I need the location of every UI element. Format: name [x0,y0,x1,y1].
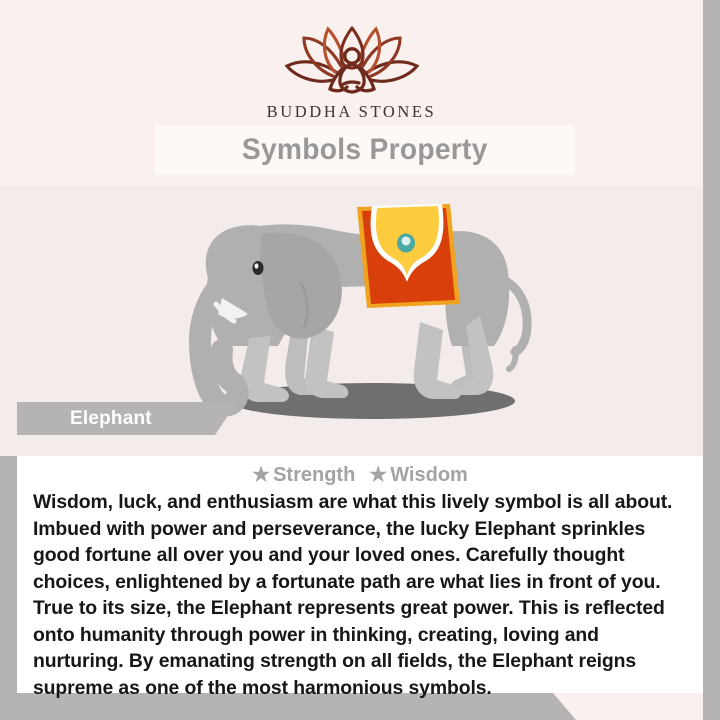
symbol-name: Elephant [70,408,152,430]
lotus-meditation-figure-icon [273,22,431,100]
keyword-strength: ★Strength [252,462,355,487]
symbol-name-tag: Elephant [17,402,237,435]
symbol-description: Wisdom, luck, and enthusiasm are what th… [17,489,703,701]
star-icon: ★ [369,464,387,486]
elephant-blanket [357,204,460,308]
keyword-wisdom-label: Wisdom [390,464,468,486]
page-title-banner: Symbols Property [155,125,575,175]
symbol-card: BUDDHA STONES Symbols Property [0,0,720,720]
keyword-list: ★Strength★Wisdom [17,456,703,487]
elephant-eye [253,261,264,275]
keyword-wisdom: ★Wisdom [369,462,468,487]
brand-name: BUDDHA STONES [0,102,703,122]
keyword-strength-label: Strength [273,464,355,486]
frame-right-bar [703,0,720,720]
description-panel: ★Strength★Wisdom Wisdom, luck, and enthu… [17,456,703,693]
header: BUDDHA STONES Symbols Property [0,0,703,186]
star-icon: ★ [252,464,270,486]
page-title: Symbols Property [242,133,488,167]
brand-logo: BUDDHA STONES [0,22,703,122]
